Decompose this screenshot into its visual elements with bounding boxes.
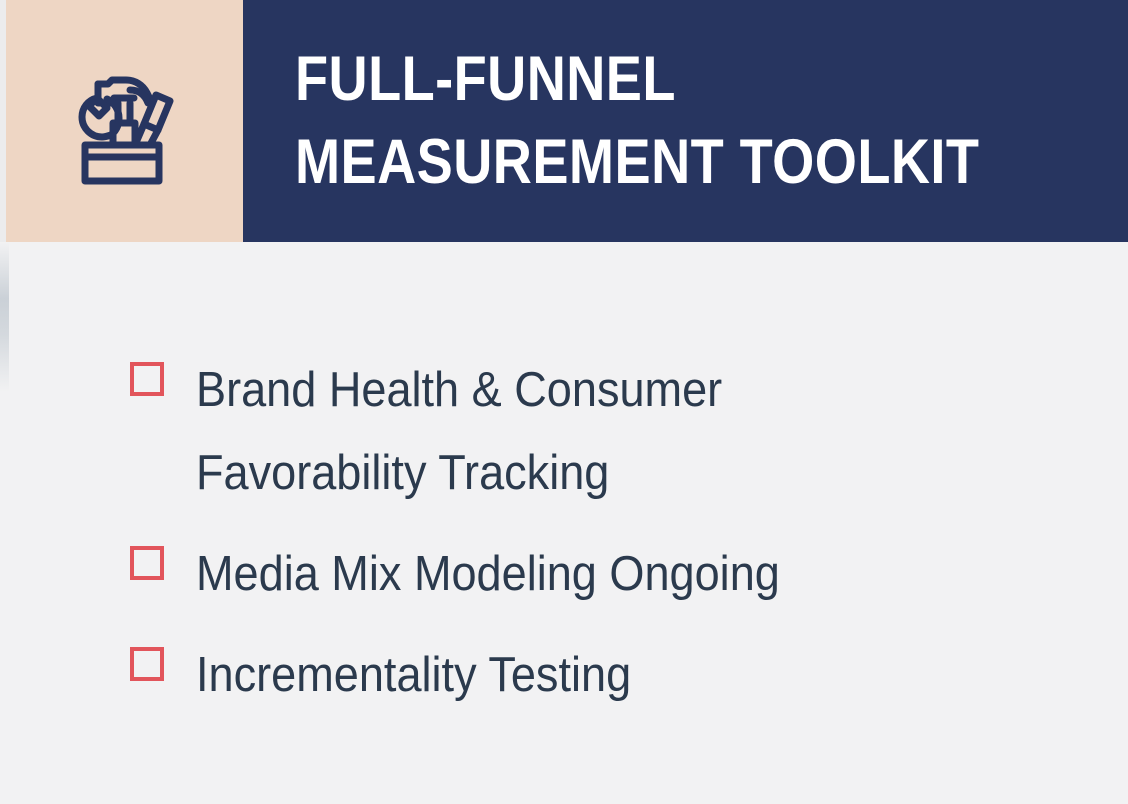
list-item[interactable]: Brand Health & Consumer Favorability Tra…	[130, 349, 1128, 515]
left-edge-shadow	[0, 242, 9, 392]
checkbox-icon[interactable]	[130, 647, 164, 681]
header-title-panel: FULL-FUNNEL MEASUREMENT TOOLKIT	[243, 0, 1128, 242]
left-edge-strip	[0, 0, 6, 242]
checklist: Brand Health & Consumer Favorability Tra…	[0, 242, 1128, 804]
header-title-line-2: MEASUREMENT TOOLKIT	[295, 121, 1011, 204]
list-item-label: Brand Health & Consumer Favorability Tra…	[196, 349, 722, 515]
header-band: FULL-FUNNEL MEASUREMENT TOOLKIT	[0, 0, 1128, 242]
checkbox-icon[interactable]	[130, 362, 164, 396]
header-icon-panel	[0, 0, 243, 242]
header-title-line-1: FULL-FUNNEL	[295, 38, 1011, 121]
checkbox-icon[interactable]	[130, 546, 164, 580]
toolbox-icon	[52, 51, 192, 191]
list-item-label: Media Mix Modeling Ongoing	[196, 533, 780, 616]
slide-root: FULL-FUNNEL MEASUREMENT TOOLKIT Brand He…	[0, 0, 1128, 804]
list-item[interactable]: Media Mix Modeling Ongoing	[130, 533, 1128, 616]
list-item-label: Incrementality Testing	[196, 634, 631, 717]
list-item[interactable]: Incrementality Testing	[130, 634, 1128, 717]
